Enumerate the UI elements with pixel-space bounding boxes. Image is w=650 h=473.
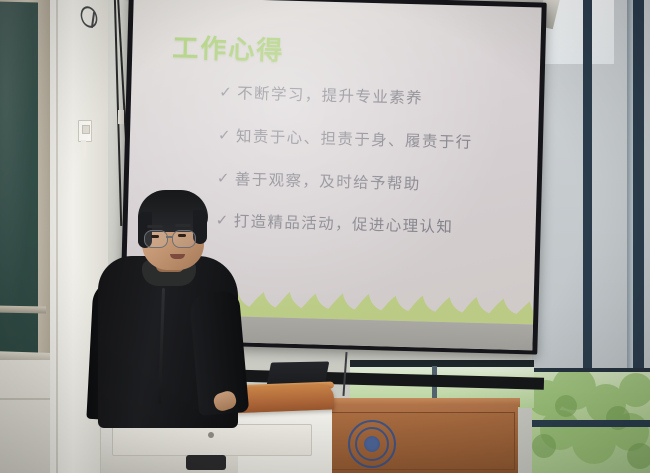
podium-handle[interactable] <box>186 455 226 470</box>
eyeglasses-right-lens-icon <box>172 230 196 248</box>
presenter-eye-left <box>151 235 159 238</box>
bullet-text: 善于观察，及时给予帮助 <box>235 171 421 194</box>
presenter <box>98 196 238 426</box>
slide-bullet-list: ✓ 不断学习，提升专业素养 ✓ 知责于心、担责于身、履责于行 ✓ 善于观察，及时… <box>215 85 526 264</box>
cable-clip <box>118 110 124 124</box>
checkmark-icon: ✓ <box>217 170 235 187</box>
bullet-text: 不断学习，提升专业素养 <box>237 85 423 108</box>
bullet-text: 知责于心、担责于身、履责于行 <box>236 128 473 152</box>
list-item: ✓ 善于观察，及时给予帮助 <box>217 170 523 196</box>
list-item: ✓ 不断学习，提升专业素养 <box>219 85 525 111</box>
checkmark-icon: ✓ <box>218 128 236 145</box>
classroom-photo: 工作心得 ✓ 不断学习，提升专业素养 ✓ 知责于心、担责于身、履责于行 ✓ 善于… <box>0 0 650 473</box>
chalkboard-divider <box>0 305 46 313</box>
eyeglasses-bridge <box>166 236 173 238</box>
presenter-eye-right <box>178 234 186 237</box>
list-item: ✓ 打造精品活动，促进心理认知 <box>215 213 521 239</box>
window-sill-bar <box>532 420 650 427</box>
switch-conduit <box>81 140 86 158</box>
presenter-eyebrow-right <box>175 224 191 227</box>
podium-drawer[interactable] <box>112 424 312 456</box>
university-emblem <box>348 420 396 468</box>
pillar-seam <box>56 0 58 473</box>
slide-title: 工作心得 <box>172 28 285 68</box>
bullet-text: 打造精品活动，促进心理认知 <box>233 214 453 238</box>
green-chalkboard <box>0 2 38 373</box>
list-item: ✓ 知责于心、担责于身、履责于行 <box>218 128 524 154</box>
checkmark-icon: ✓ <box>219 85 237 102</box>
podium-lock-icon <box>208 432 214 438</box>
light-switch[interactable] <box>78 120 92 142</box>
presenter-eyebrow-left <box>147 225 163 228</box>
eyeglasses-left-lens-icon <box>144 230 168 248</box>
